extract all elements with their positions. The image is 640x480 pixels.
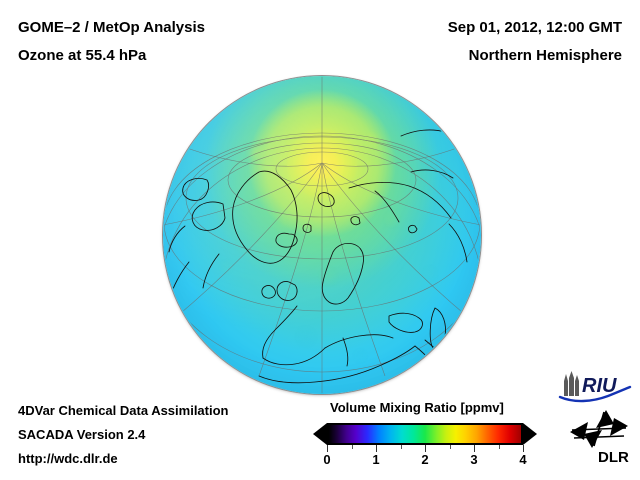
graticule-meridians (163, 76, 481, 394)
colorbar-tick-label: 2 (421, 452, 428, 467)
dlr-mark-lines-icon (572, 412, 626, 446)
colorbar-major-tick (474, 445, 475, 452)
colorbar-minor-tick (401, 445, 402, 449)
riu-towers-icon (564, 371, 579, 396)
colorbar-extend-low-arrow-icon (313, 423, 327, 445)
colorbar-tick-label: 0 (323, 452, 330, 467)
dlr-logo: DLR (566, 408, 632, 466)
version-label: SACADA Version 2.4 (18, 427, 145, 442)
colorbar-major-tick (425, 445, 426, 452)
method-label: 4DVar Chemical Data Assimilation (18, 403, 229, 418)
colorbar-title: Volume Mixing Ratio [ppmv] (330, 400, 504, 415)
colorbar-tick-label: 1 (372, 452, 379, 467)
variable-subtitle: Ozone at 55.4 hPa (18, 47, 146, 64)
colorbar[interactable] (313, 423, 537, 445)
colorbar-extend-high-arrow-icon (523, 423, 537, 445)
dlr-wordmark: DLR (598, 449, 629, 466)
riu-logo: RIU (558, 370, 632, 404)
datetime-label: Sep 01, 2012, 12:00 GMT (448, 19, 622, 36)
colorbar-tick-label: 4 (519, 452, 526, 467)
colorbar-major-tick (327, 445, 328, 452)
page-title: GOME–2 / MetOp Analysis (18, 19, 205, 36)
colorbar-minor-tick (352, 445, 353, 449)
globe-map (163, 76, 481, 394)
colorbar-ticks (313, 445, 537, 452)
colorbar-major-tick (523, 445, 524, 452)
colorbar-gradient (327, 423, 523, 445)
website-link[interactable]: http://wdc.dlr.de (18, 451, 118, 466)
colorbar-minor-tick (499, 445, 500, 449)
colorbar-tick-label: 3 (470, 452, 477, 467)
region-label: Northern Hemisphere (469, 47, 622, 64)
colorbar-labels: 01234 (313, 452, 537, 470)
coastlines (169, 130, 467, 383)
map-overlays (163, 76, 481, 394)
colorbar-major-tick (376, 445, 377, 452)
colorbar-minor-tick (450, 445, 451, 449)
